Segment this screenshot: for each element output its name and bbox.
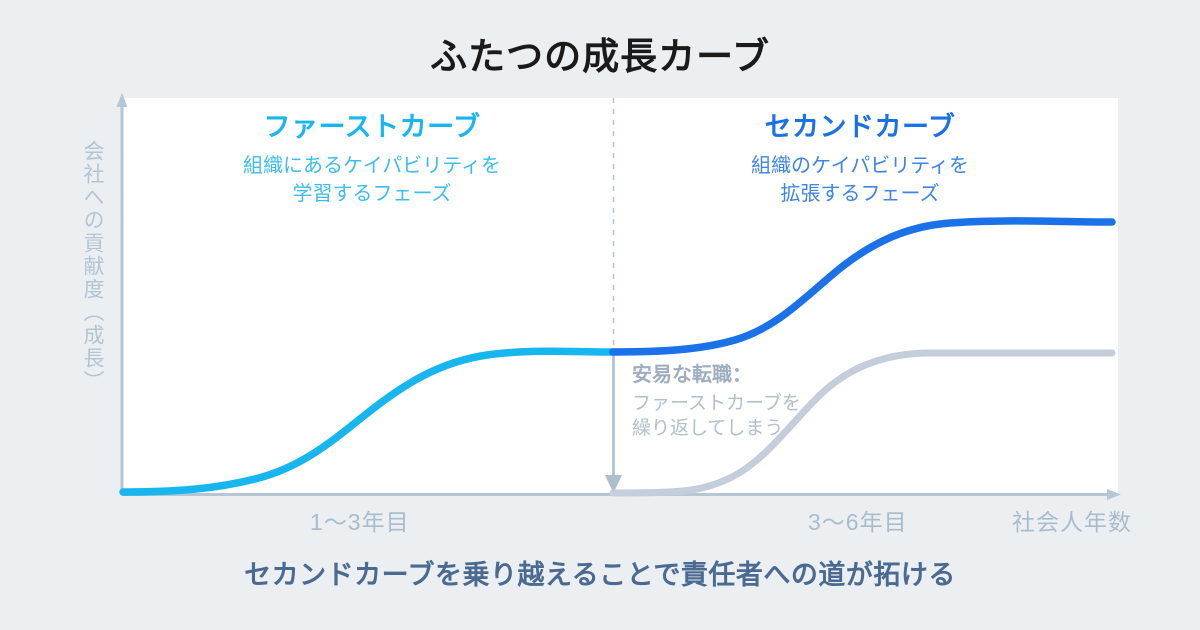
- page-title: ふたつの成長カーブ: [0, 26, 1200, 80]
- infographic-page: ふたつの成長カーブ 会社への貢献度（成長） ファーストカーブ: [0, 0, 1200, 630]
- phase-title-second-curve: セカンドカーブ: [640, 113, 1080, 143]
- x-tick-label-2: 3〜6年目: [808, 503, 908, 537]
- phase-title-first-curve: ファーストカーブ: [152, 113, 592, 143]
- phase-block-first-curve: ファーストカーブ 組織にあるケイパビリティを 学習するフェーズ: [152, 113, 592, 208]
- phase-desc-first-curve: 組織にあるケイパビリティを 学習するフェーズ: [152, 152, 592, 209]
- warning-annotation-body: ファーストカーブを 繰り返してしまう: [632, 391, 872, 441]
- phase-desc-second-curve: 組織のケイパビリティを 拡張するフェーズ: [640, 152, 1080, 209]
- warning-annotation-title: 安易な転職：: [632, 362, 872, 388]
- page-caption: セカンドカーブを乗り越えることで責任者への道が拓ける: [0, 553, 1200, 592]
- x-axis-title: 社会人年数: [1012, 503, 1132, 537]
- phase-block-second-curve: セカンドカーブ 組織のケイパビリティを 拡張するフェーズ: [640, 113, 1080, 208]
- x-tick-label-1: 1〜3年目: [310, 503, 410, 537]
- y-axis-label: 会社への貢献度（成長）: [70, 140, 104, 393]
- warning-annotation: 安易な転職： ファーストカーブを 繰り返してしまう: [632, 362, 872, 441]
